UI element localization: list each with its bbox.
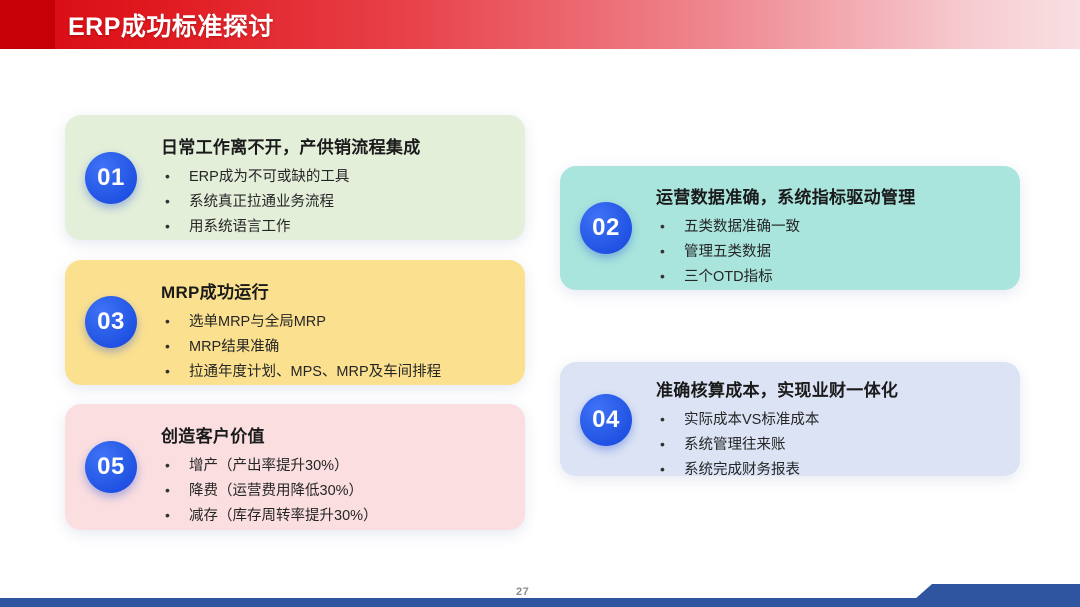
card-number-badge: 02 (580, 202, 632, 254)
card-body: 日常工作离不开，产供销流程集成 ERP成为不可或缺的工具 系统真正拉通业务流程 … (161, 133, 421, 240)
card-number-badge: 01 (85, 152, 137, 204)
card-body: 创造客户价值 增产（产出率提升30%） 降费（运营费用降低30%） 减存（库存周… (161, 422, 378, 529)
page-title: ERP成功标准探讨 (68, 7, 274, 43)
card-title: 日常工作离不开，产供销流程集成 (161, 133, 421, 158)
list-item: 系统完成财务报表 (656, 458, 898, 483)
page-number: 27 (516, 586, 529, 598)
card-body: 运营数据准确，系统指标驱动管理 五类数据准确一致 管理五类数据 三个OTD指标 (656, 183, 916, 290)
content-card-03: 03 MRP成功运行 选单MRP与全局MRP MRP结果准确 拉通年度计划、MP… (65, 260, 525, 385)
card-title: 准确核算成本，实现业财一体化 (656, 376, 898, 401)
list-item: 实际成本VS标准成本 (656, 408, 898, 433)
list-item: 三个OTD指标 (656, 265, 916, 290)
card-bullet-list: 实际成本VS标准成本 系统管理往来账 系统完成财务报表 (656, 408, 898, 483)
list-item: 降费（运营费用降低30%） (161, 479, 378, 504)
content-card-02: 02 运营数据准确，系统指标驱动管理 五类数据准确一致 管理五类数据 三个OTD… (560, 166, 1020, 290)
list-item: MRP结果准确 (161, 335, 441, 360)
list-item: 系统真正拉通业务流程 (161, 190, 421, 215)
list-item: 增产（产出率提升30%） (161, 454, 378, 479)
list-item: 管理五类数据 (656, 240, 916, 265)
card-body: MRP成功运行 选单MRP与全局MRP MRP结果准确 拉通年度计划、MPS、M… (161, 278, 441, 385)
list-item: 五类数据准确一致 (656, 215, 916, 240)
slide-header: ERP成功标准探讨 (0, 0, 1080, 49)
list-item: 拉通年度计划、MPS、MRP及车间排程 (161, 360, 441, 385)
card-title: 创造客户价值 (161, 422, 378, 447)
card-body: 准确核算成本，实现业财一体化 实际成本VS标准成本 系统管理往来账 系统完成财务… (656, 376, 898, 483)
card-bullet-list: ERP成为不可或缺的工具 系统真正拉通业务流程 用系统语言工作 (161, 165, 421, 240)
card-bullet-list: 增产（产出率提升30%） 降费（运营费用降低30%） 减存（库存周转率提升30%… (161, 454, 378, 529)
card-bullet-list: 选单MRP与全局MRP MRP结果准确 拉通年度计划、MPS、MRP及车间排程 (161, 310, 441, 385)
list-item: 减存（库存周转率提升30%） (161, 504, 378, 529)
content-card-01: 01 日常工作离不开，产供销流程集成 ERP成为不可或缺的工具 系统真正拉通业务… (65, 115, 525, 240)
card-number-badge: 04 (580, 394, 632, 446)
card-title: MRP成功运行 (161, 278, 441, 303)
header-accent-block (0, 0, 55, 49)
content-card-04: 04 准确核算成本，实现业财一体化 实际成本VS标准成本 系统管理往来账 系统完… (560, 362, 1020, 476)
card-number-badge: 05 (85, 441, 137, 493)
list-item: 用系统语言工作 (161, 215, 421, 240)
content-card-05: 05 创造客户价值 增产（产出率提升30%） 降费（运营费用降低30%） 减存（… (65, 404, 525, 530)
card-title: 运营数据准确，系统指标驱动管理 (656, 183, 916, 208)
footer-wedge-decoration (880, 584, 1080, 607)
card-bullet-list: 五类数据准确一致 管理五类数据 三个OTD指标 (656, 215, 916, 290)
card-number-badge: 03 (85, 296, 137, 348)
list-item: 系统管理往来账 (656, 433, 898, 458)
list-item: ERP成为不可或缺的工具 (161, 165, 421, 190)
list-item: 选单MRP与全局MRP (161, 310, 441, 335)
